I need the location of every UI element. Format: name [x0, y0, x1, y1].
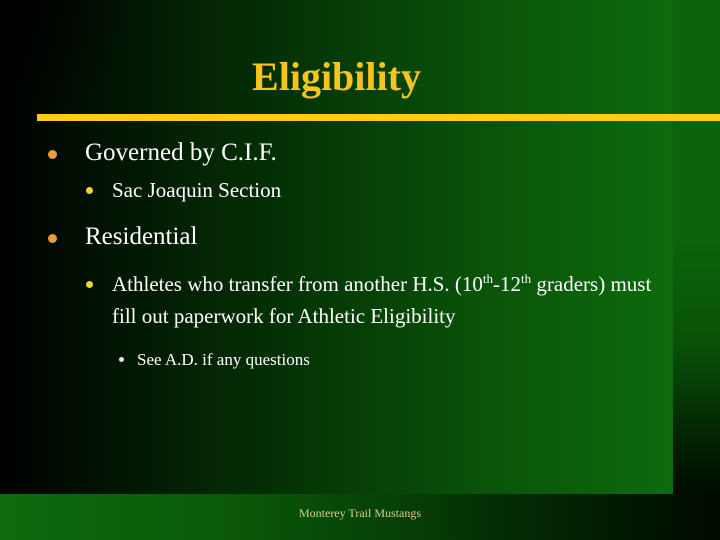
bullet-item-level2: Sac Joaquin Section	[0, 174, 673, 206]
bullet-dot-icon	[86, 187, 93, 194]
presentation-slide: Eligibility Governed by C.I.F. Sac Joaqu…	[0, 0, 720, 540]
slide-body: Governed by C.I.F. Sac Joaquin Section R…	[0, 134, 673, 374]
bullet-item-level3: See A.D. if any questions	[0, 346, 673, 374]
bullet-text: Sac Joaquin Section	[112, 174, 673, 206]
bullet-text: See A.D. if any questions	[137, 346, 673, 374]
bullet-text-segment: Athletes who transfer from another H.S. …	[112, 272, 483, 296]
ordinal-suffix: th	[521, 271, 531, 286]
bullet-item-level1: Residential	[0, 218, 673, 256]
bullet-item-level2: Athletes who transfer from another H.S. …	[0, 268, 673, 332]
slide-title: Eligibility	[0, 54, 673, 100]
bullet-dot-icon	[86, 281, 93, 288]
bullet-dot-icon	[48, 234, 57, 243]
bullet-text-segment: -12	[493, 272, 521, 296]
title-divider-rule	[37, 114, 720, 121]
bullet-text: Governed by C.I.F.	[85, 134, 673, 172]
bullet-item-level1: Governed by C.I.F.	[0, 134, 673, 172]
bullet-dot-icon	[119, 357, 124, 362]
spacer	[0, 206, 673, 218]
ordinal-suffix: th	[483, 271, 493, 286]
bullet-text: Residential	[85, 218, 673, 256]
bullet-dot-icon	[48, 150, 57, 159]
spacer	[0, 332, 673, 346]
slide-footer: Monterey Trail Mustangs	[0, 505, 720, 521]
slide-background-right-strip	[673, 0, 720, 494]
bullet-text: Athletes who transfer from another H.S. …	[112, 268, 673, 332]
spacer	[0, 258, 673, 268]
